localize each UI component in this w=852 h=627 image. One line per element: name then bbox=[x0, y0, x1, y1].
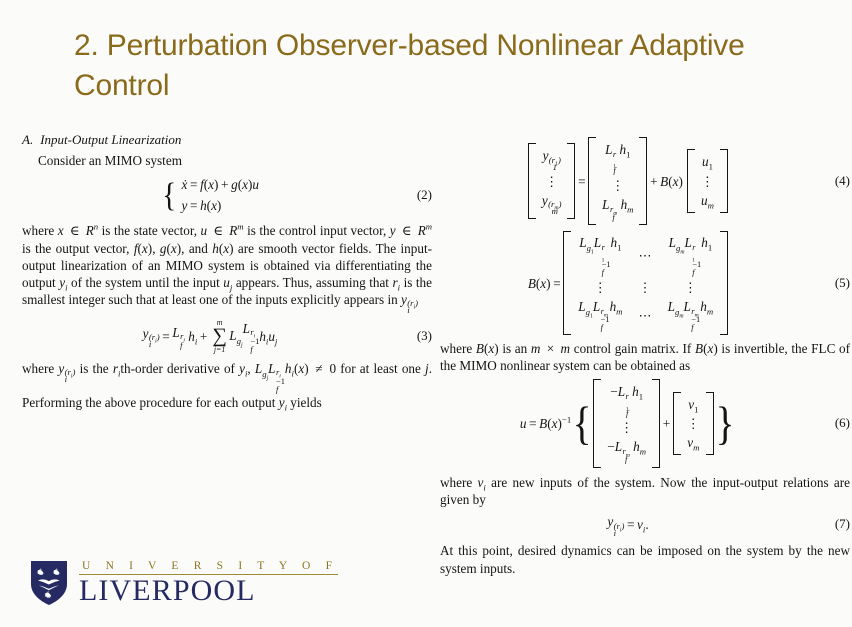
right-paragraph-2: where vi are new inputs of the system. N… bbox=[440, 474, 850, 508]
equation-3: y(ri)i=Lrif hi+m∑j=1LgjLri−1fhiuj (3) bbox=[22, 319, 432, 354]
right-paragraph-3: At this point, desired dynamics can be i… bbox=[440, 542, 850, 576]
equation-3-number: (3) bbox=[398, 328, 432, 345]
section-label: A. bbox=[22, 132, 40, 147]
equation-7-number: (7) bbox=[816, 516, 850, 533]
equation-4-number: (4) bbox=[816, 173, 850, 190]
logo-line-liverpool: LIVERPOOL bbox=[79, 576, 338, 607]
university-logo: U N I V E R S I T Y O F LIVERPOOL bbox=[30, 560, 338, 607]
slide-content: A.Input-Output Linearization Consider an… bbox=[0, 132, 852, 532]
left-intro-text: Consider an MIMO system bbox=[22, 152, 432, 169]
page-title: 2. Perturbation Observer-based Nonlinear… bbox=[74, 26, 774, 105]
equation-5: B(x)= Lg1Lr1−1fh1 ⋯ LgmLr1−1fh1 ⋮ ⋮ ⋮ Lg… bbox=[440, 231, 850, 335]
section-title: Input-Output Linearization bbox=[40, 132, 181, 147]
right-paragraph-1: where B(x) is an m × m control gain matr… bbox=[440, 340, 850, 374]
left-paragraph-1: where x ∈ Rn is the state vector, u ∈ Rm… bbox=[22, 222, 432, 314]
left-paragraph-2: where y(ri)i is the rith-order derivativ… bbox=[22, 360, 432, 411]
equation-6: u=B(x)−1 { −Lr1f h1 ⋮ −Lrmf hm + v1 bbox=[440, 379, 850, 467]
liverpool-shield-icon bbox=[30, 560, 68, 606]
section-heading: A.Input-Output Linearization bbox=[22, 132, 432, 149]
equation-5-number: (5) bbox=[816, 275, 850, 292]
right-column: y(r1)1 ⋮ y(rm)m = Lr1f h1 ⋮ Lrmf hm bbox=[440, 132, 850, 580]
logo-wordmark: U N I V E R S I T Y O F LIVERPOOL bbox=[79, 560, 338, 607]
gain-matrix-symbol: B(x) bbox=[660, 173, 683, 190]
equation-7: y(ri)i=vi. (7) bbox=[440, 513, 850, 536]
equation-4: y(r1)1 ⋮ y(rm)m = Lr1f h1 ⋮ Lrmf hm bbox=[440, 137, 850, 225]
equation-2: { ẋ=f(x)+g(x)u y=h(x) (2) bbox=[22, 174, 432, 216]
equation-2-number: (2) bbox=[398, 187, 432, 204]
logo-line-university-of: U N I V E R S I T Y O F bbox=[79, 560, 338, 575]
left-column: A.Input-Output Linearization Consider an… bbox=[22, 132, 432, 414]
equation-6-number: (6) bbox=[816, 415, 850, 432]
